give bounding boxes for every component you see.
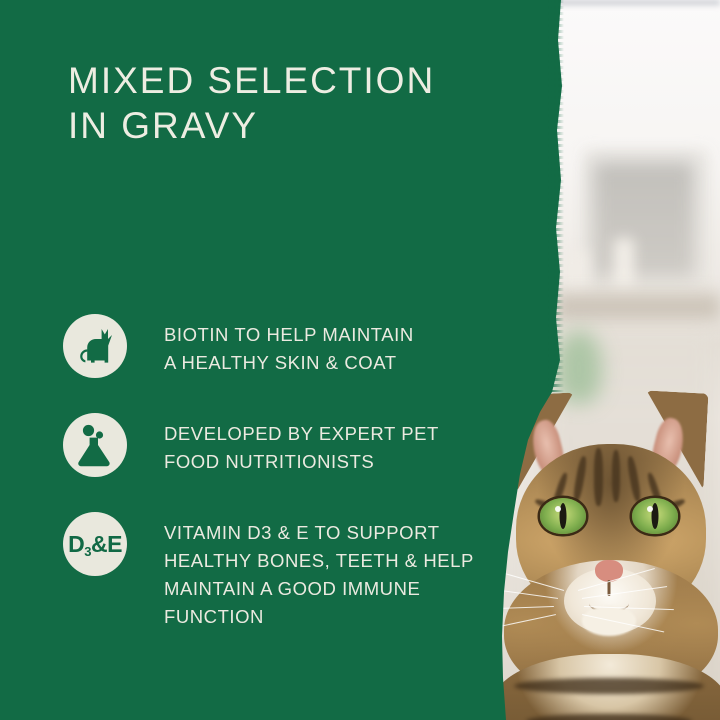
vitamin-badge-main: D (68, 531, 84, 557)
product-feature-panel: MIXED SELECTION IN GRAVY BIOTIN TO HELP … (0, 0, 720, 720)
background-counter-edge (556, 292, 720, 318)
cat-icon (72, 323, 118, 369)
cat-eye-right (632, 498, 678, 534)
feature-item-vitamins: D3&E VITAMIN D3 & E TO SUPPORT HEALTHY B… (63, 510, 503, 631)
cat-chin (582, 606, 636, 636)
background-jar-right (614, 238, 634, 290)
feature-text-biotin: BIOTIN TO HELP MAINTAIN A HEALTHY SKIN &… (164, 312, 414, 377)
cat-icon-badge (63, 314, 127, 378)
feature-item-nutritionists: DEVELOPED BY EXPERT PET FOOD NUTRITIONIS… (63, 411, 503, 477)
vitamin-badge-label: D3&E (68, 533, 122, 556)
background-ceiling-strip (540, 0, 720, 5)
cat-photo (498, 392, 720, 720)
panel-torn-edge (548, 0, 564, 392)
feature-text-vitamins: VITAMIN D3 & E TO SUPPORT HEALTHY BONES,… (164, 510, 474, 631)
vitamin-badge-tail: &E (91, 531, 122, 557)
feature-item-biotin: BIOTIN TO HELP MAINTAIN A HEALTHY SKIN &… (63, 312, 503, 378)
page-title: MIXED SELECTION IN GRAVY (68, 58, 435, 148)
background-window-glass (592, 160, 696, 278)
cat-eye-glint-right (647, 506, 653, 512)
cat-eye-glint-left (555, 506, 561, 512)
background-jar-left (566, 250, 588, 294)
feature-list: BIOTIN TO HELP MAINTAIN A HEALTHY SKIN &… (63, 312, 503, 664)
flask-icon (74, 423, 116, 467)
vitamin-badge-subscript: 3 (84, 544, 91, 559)
cat-eye-left (540, 498, 586, 534)
vitamin-badge: D3&E (63, 512, 127, 576)
flask-icon-badge (63, 413, 127, 477)
feature-text-nutritionists: DEVELOPED BY EXPERT PET FOOD NUTRITIONIS… (164, 411, 439, 476)
